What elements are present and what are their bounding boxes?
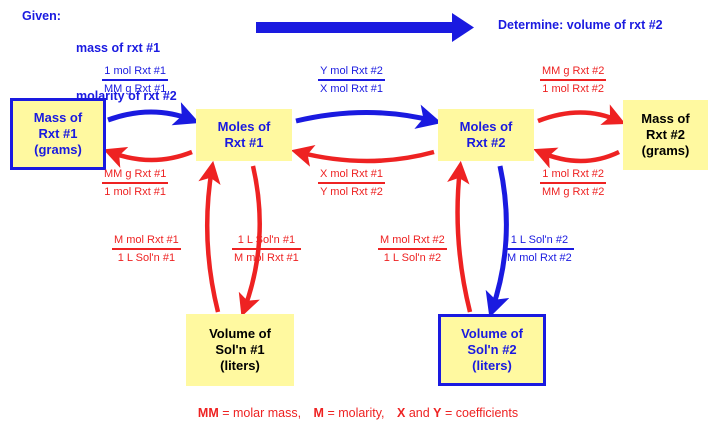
fraction-numerator: 1 mol Rxt #1: [102, 64, 168, 78]
arrow-moles1-to-moles2: [296, 113, 434, 122]
legend-xy-definition: = coefficients: [442, 406, 519, 420]
fraction-denominator: 1 L Sol'n #1: [112, 251, 181, 265]
node-moles-rxt-1[interactable]: Moles of Rxt #1: [196, 109, 292, 161]
fraction-bar: [378, 248, 447, 250]
fraction-moles2-to-vol2: 1 L Sol'n #2 M mol Rxt #2: [505, 233, 574, 265]
fraction-numerator: 1 L Sol'n #1: [232, 233, 301, 247]
fraction-moles1-to-moles2: Y mol Rxt #2 X mol Rxt #1: [318, 64, 385, 96]
fraction-bar: [318, 182, 385, 184]
fraction-numerator: MM g Rxt #2: [540, 64, 606, 78]
node-mass-rxt-2-line2: Rxt #2: [646, 127, 685, 143]
legend-m-definition: = molarity,: [324, 406, 397, 420]
node-mass-rxt-1[interactable]: Mass of Rxt #1 (grams): [10, 98, 106, 170]
node-moles-rxt-2[interactable]: Moles of Rxt #2: [438, 109, 534, 161]
fraction-denominator: X mol Rxt #1: [318, 82, 385, 96]
fraction-numerator: 1 mol Rxt #2: [540, 167, 606, 181]
arrow-mass2-to-moles2: [540, 152, 619, 161]
fraction-denominator: 1 L Sol'n #2: [378, 251, 447, 265]
legend-mm-definition: = molar mass,: [219, 406, 314, 420]
node-moles-rxt-1-line1: Moles of: [218, 119, 271, 135]
fraction-bar: [540, 182, 606, 184]
node-moles-rxt-1-line2: Rxt #1: [224, 135, 263, 151]
node-mass-rxt-2-line1: Mass of: [641, 111, 689, 127]
fraction-mass2-to-moles2: 1 mol Rxt #2 MM g Rxt #2: [540, 167, 606, 199]
node-mass-rxt-2[interactable]: Mass of Rxt #2 (grams): [623, 100, 708, 170]
given-line-1: mass of rxt #1: [76, 40, 177, 56]
node-mass-rxt-1-line1: Mass of: [34, 110, 82, 126]
fraction-bar: [112, 248, 181, 250]
fraction-bar: [232, 248, 301, 250]
fraction-denominator: MM g Rxt #1: [102, 82, 168, 96]
right-arrow-icon: [256, 13, 474, 42]
fraction-numerator: 1 L Sol'n #2: [505, 233, 574, 247]
legend: MM = molar mass, M = molarity, X and Y =…: [0, 406, 716, 420]
fraction-vol2-to-moles2: M mol Rxt #2 1 L Sol'n #2: [378, 233, 447, 265]
legend-m-symbol: M: [314, 406, 324, 420]
node-mass-rxt-1-line3: (grams): [34, 142, 82, 158]
legend-y-symbol: Y: [433, 406, 441, 420]
arrow-vol1-to-moles1: [207, 168, 218, 312]
fraction-denominator: M mol Rxt #1: [232, 251, 301, 265]
fraction-bar: [102, 79, 168, 81]
given-label: Given:: [22, 8, 61, 24]
legend-xy-conjunction: and: [405, 406, 433, 420]
fraction-numerator: M mol Rxt #2: [378, 233, 447, 247]
arrow-moles2-to-moles1: [298, 152, 434, 161]
node-mass-rxt-1-line2: Rxt #1: [38, 126, 77, 142]
node-mass-rxt-2-line3: (grams): [642, 143, 690, 159]
fraction-bar: [540, 79, 606, 81]
fraction-moles2-to-moles1: X mol Rxt #1 Y mol Rxt #2: [318, 167, 385, 199]
node-moles-rxt-2-line1: Moles of: [460, 119, 513, 135]
fraction-denominator: MM g Rxt #2: [540, 185, 606, 199]
stoichiometry-flowchart: Given: mass of rxt #1 molarity of rxt #2…: [0, 0, 716, 437]
node-volume-soln-2-line3: (liters): [472, 358, 512, 374]
arrow-moles1-to-mass1: [110, 152, 192, 160]
legend-mm-symbol: MM: [198, 406, 219, 420]
fraction-denominator: 1 mol Rxt #1: [102, 185, 168, 199]
node-volume-soln-2-line2: Sol'n #2: [467, 342, 516, 358]
fraction-moles2-to-mass2: MM g Rxt #2 1 mol Rxt #2: [540, 64, 606, 96]
fraction-numerator: MM g Rxt #1: [102, 167, 168, 181]
node-volume-soln-1-line3: (liters): [220, 358, 260, 374]
fraction-numerator: X mol Rxt #1: [318, 167, 385, 181]
fraction-moles1-to-mass1: MM g Rxt #1 1 mol Rxt #1: [102, 167, 168, 199]
fraction-bar: [102, 182, 168, 184]
arrow-moles2-to-mass2: [538, 113, 619, 122]
fraction-vol1-to-moles1: M mol Rxt #1 1 L Sol'n #1: [112, 233, 181, 265]
fraction-denominator: 1 mol Rxt #2: [540, 82, 606, 96]
node-volume-soln-2-line1: Volume of: [461, 326, 523, 342]
node-volume-soln-1-line2: Sol'n #1: [215, 342, 264, 358]
fraction-bar: [318, 79, 385, 81]
determine-label: Determine: volume of rxt #2: [498, 17, 663, 33]
node-volume-soln-1[interactable]: Volume of Sol'n #1 (liters): [186, 314, 294, 386]
node-moles-rxt-2-line2: Rxt #2: [466, 135, 505, 151]
fraction-numerator: Y mol Rxt #2: [318, 64, 385, 78]
node-volume-soln-2[interactable]: Volume of Sol'n #2 (liters): [438, 314, 546, 386]
node-volume-soln-1-line1: Volume of: [209, 326, 271, 342]
fraction-moles1-to-vol1: 1 L Sol'n #1 M mol Rxt #1: [232, 233, 301, 265]
fraction-bar: [505, 248, 574, 250]
arrow-vol2-to-moles2: [458, 168, 470, 312]
fraction-denominator: M mol Rxt #2: [505, 251, 574, 265]
fraction-mass1-to-moles1: 1 mol Rxt #1 MM g Rxt #1: [102, 64, 168, 96]
fraction-denominator: Y mol Rxt #2: [318, 185, 385, 199]
fraction-numerator: M mol Rxt #1: [112, 233, 181, 247]
